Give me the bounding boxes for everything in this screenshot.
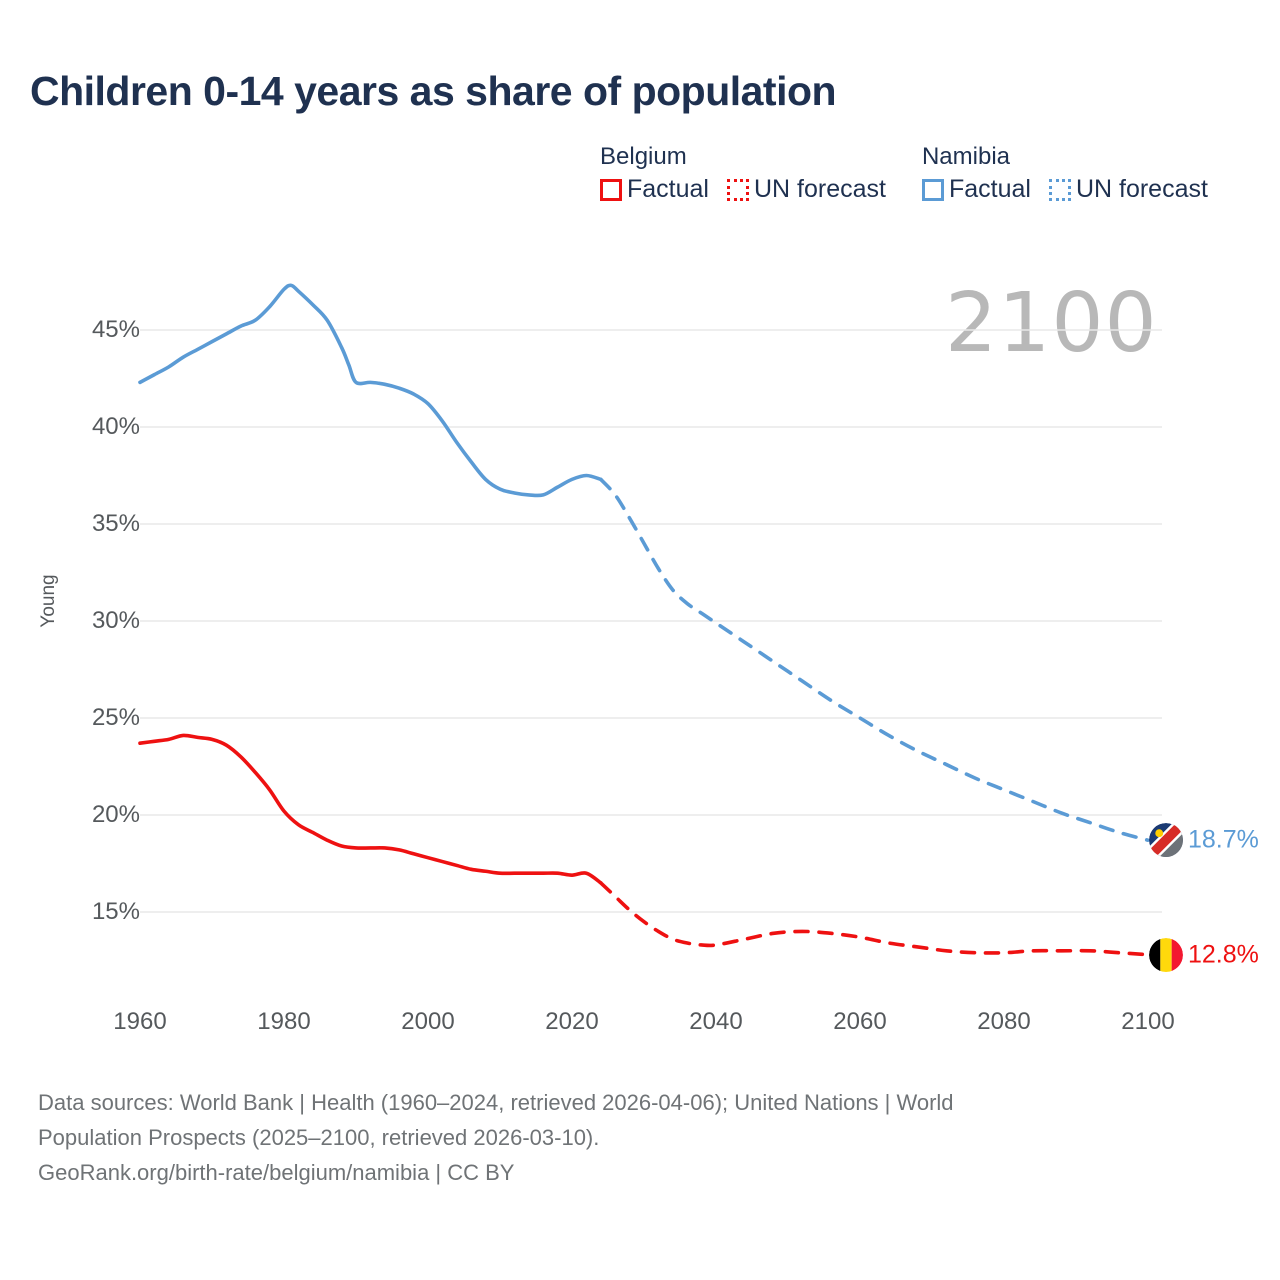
belgium-end-value-label: 12.8% [1188, 940, 1259, 969]
namibia-end-value-label: 18.7% [1188, 826, 1259, 855]
plot-svg [0, 0, 1280, 1060]
series-line-belgium-forecast [601, 883, 1148, 955]
series-line-namibia-factual [140, 285, 601, 495]
footer-sources: Data sources: World Bank | Health (1960–… [38, 1085, 1238, 1190]
line-chart: 2100 Young 15%20%25%30%35%40%45% 1960198… [0, 0, 1280, 1060]
series-line-namibia-forecast [601, 479, 1148, 840]
namibia-flag-icon [1149, 823, 1183, 857]
series-line-belgium-factual [140, 735, 601, 882]
footer-line-2: Population Prospects (2025–2100, retriev… [38, 1120, 1238, 1155]
footer-line-1: Data sources: World Bank | Health (1960–… [38, 1085, 1238, 1120]
footer-line-3: GeoRank.org/birth-rate/belgium/namibia |… [38, 1155, 1238, 1190]
belgium-flag-icon [1149, 938, 1183, 972]
chart-page: Children 0-14 years as share of populati… [0, 0, 1280, 1280]
